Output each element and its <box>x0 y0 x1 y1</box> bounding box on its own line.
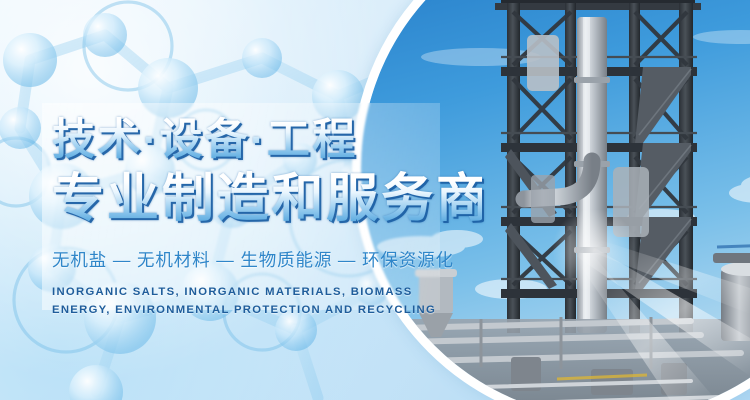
subtitle-chinese: 无机盐 — 无机材料 — 生物质能源 — 环保资源化 <box>52 225 482 272</box>
banner-text-block: 技术·设备·工程 专业制造和服务商 无机盐 — 无机材料 — 生物质能源 — 环… <box>52 105 482 320</box>
headline-line-1: 技术·设备·工程 <box>52 105 482 162</box>
promotional-banner: 技术·设备·工程 专业制造和服务商 无机盐 — 无机材料 — 生物质能源 — 环… <box>0 0 750 400</box>
headline-line-2: 专业制造和服务商 <box>52 162 482 225</box>
subtitle-english: INORGANIC SALTS, INORGANIC MATERIALS, BI… <box>52 272 444 320</box>
